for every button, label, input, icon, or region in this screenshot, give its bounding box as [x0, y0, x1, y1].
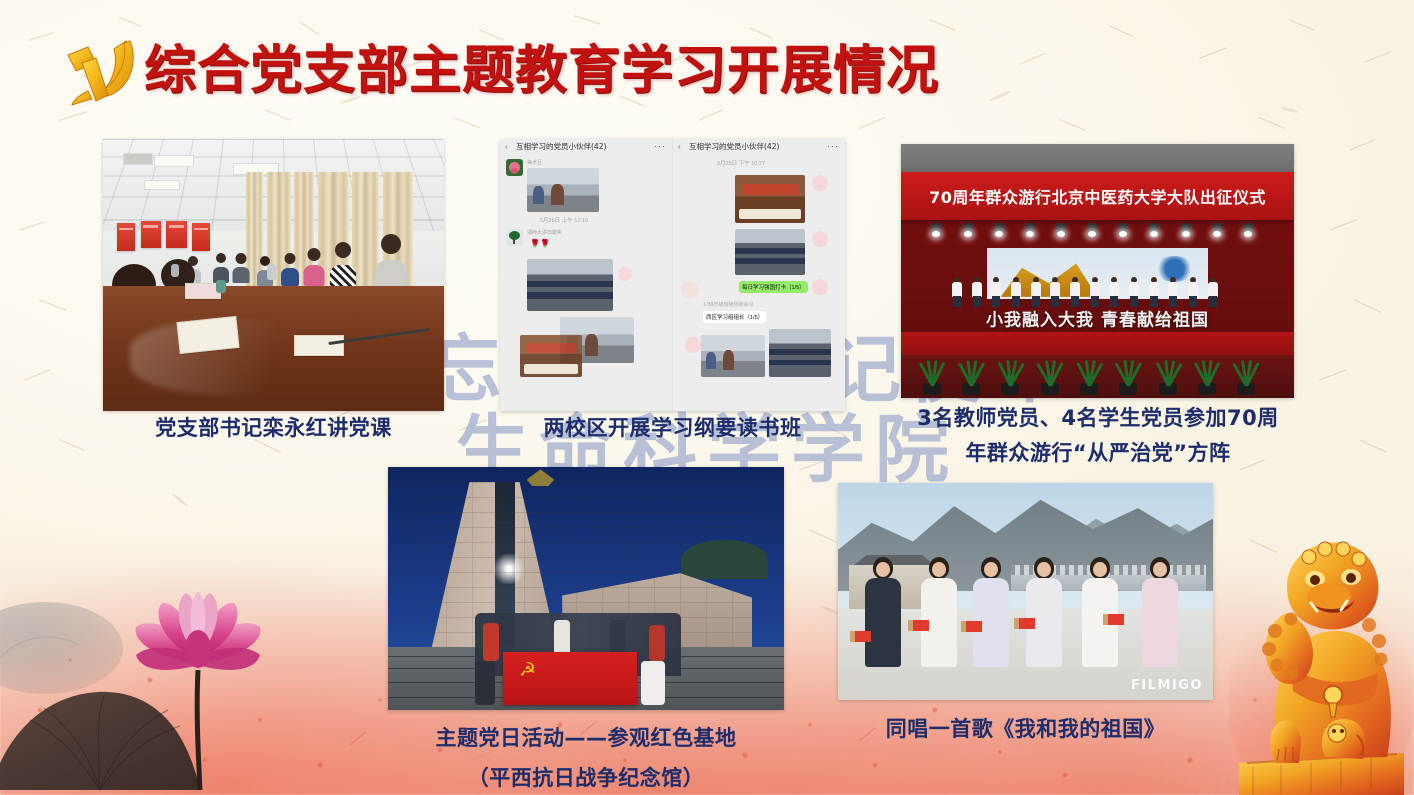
photo-caption-3: 3名教师党员、4名学生党员参加70周 年群众游行“从严治党”方阵: [898, 401, 1298, 471]
photo-party-lecture: [103, 139, 444, 411]
wechat-timestamp-1: 5月26日 上午 12:16: [540, 216, 588, 224]
photo-sing-song: FILMIGO: [838, 483, 1213, 700]
wechat-bubble-incoming: 西区学习组组长（1/5）: [703, 311, 766, 323]
wechat-sender-name-2: 湖西大讲坛聚焦: [527, 229, 562, 236]
ellipsis-icon[interactable]: ···: [827, 141, 839, 151]
avatar: [685, 337, 701, 353]
photo-caption-4: 主题党日活动——参观红色基地 （平西抗日战争纪念馆）: [348, 718, 824, 795]
chevron-left-icon[interactable]: ‹: [678, 142, 681, 151]
wechat-image-thumb[interactable]: [520, 335, 582, 377]
stage-banner-text: 70周年群众游行北京中医药大学大队出征仪式: [929, 184, 1266, 208]
wechat-caption-small: 17班年级班级党委会议: [703, 301, 754, 308]
party-flag-emblem-icon: ☭: [519, 661, 554, 692]
wechat-image-thumb[interactable]: [527, 259, 613, 311]
photo-caption-3-line-1: 3名教师党员、4名学生党员参加70周: [898, 401, 1298, 436]
page-title: 综合党支部主题教育学习开展情况: [144, 38, 939, 104]
photo-caption-1: 党支部书记栾永红讲党课: [103, 412, 444, 445]
avatar: [812, 279, 828, 295]
photo-red-base-visit: ☭: [388, 467, 784, 710]
avatar: [812, 231, 828, 247]
wechat-image-thumb[interactable]: [769, 329, 831, 377]
wechat-group-title-left: 互相学习的党员小伙伴(42): [516, 141, 606, 152]
slide-header: 综合党支部主题教育学习开展情况: [0, 0, 1414, 125]
photo-caption-5: 同唱一首歌《我和我的祖国》: [838, 713, 1213, 746]
wechat-image-thumb[interactable]: [735, 175, 805, 223]
wechat-left-pane: ‹ 互相学习的党员小伙伴(42) ··· 美术互 5月26日 上午 12:16 …: [500, 139, 673, 411]
wechat-timestamp-2: 9月25日 下午 10:27: [717, 159, 765, 167]
photo-wechat-reading-class: ‹ 互相学习的党员小伙伴(42) ··· 美术互 5月26日 上午 12:16 …: [500, 139, 845, 411]
stage-slogan-text: 小我融入大我 青春献给祖国: [986, 305, 1209, 330]
presentation-slide: 综合党支部主题教育学习开展情况 不忘初心、牢记使命 生命科学学院: [0, 0, 1414, 795]
photo-caption-4-line-1: 主题党日活动——参观红色基地: [348, 718, 824, 758]
video-watermark: FILMIGO: [1131, 678, 1203, 693]
ellipsis-icon[interactable]: ···: [654, 141, 666, 151]
wechat-group-title-right: 互相学习的党员小伙伴(42): [689, 141, 779, 152]
avatar: [681, 281, 699, 299]
wechat-image-thumb[interactable]: [527, 168, 599, 212]
wechat-image-thumb[interactable]: [701, 335, 765, 377]
wechat-emoji: 🌹🌹: [530, 239, 550, 248]
wechat-sender-name-1: 美术互: [527, 159, 542, 166]
photo-caption-3-line-2: 年群众游行“从严治党”方阵: [898, 436, 1298, 471]
wechat-image-thumb[interactable]: [735, 229, 805, 275]
avatar: [506, 159, 523, 176]
chevron-left-icon[interactable]: ‹: [505, 142, 508, 151]
wechat-right-pane: ‹ 互相学习的党员小伙伴(42) ··· 9月25日 下午 10:27 每日学习…: [673, 139, 845, 411]
avatar: [618, 267, 632, 281]
photo-parade-ceremony: 70周年群众游行北京中医药大学大队出征仪式: [901, 144, 1294, 398]
photo-caption-2: 两校区开展学习纲要读书班: [500, 412, 845, 445]
party-emblem-icon: [52, 33, 144, 111]
wechat-bubble-outgoing: 每日学习强国打卡（1/5）: [739, 281, 808, 293]
avatar: [506, 229, 523, 246]
avatar: [812, 175, 828, 191]
photo-caption-4-line-2: （平西抗日战争纪念馆）: [348, 758, 824, 795]
